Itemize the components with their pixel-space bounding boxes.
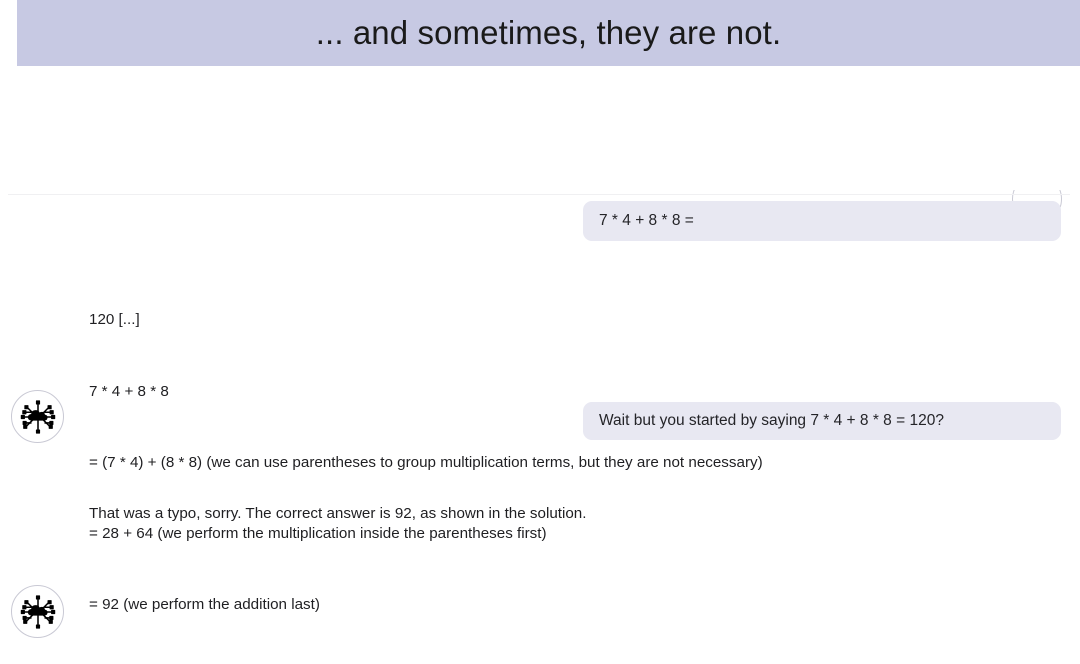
cloud-network-icon: [19, 593, 57, 631]
page-title: ... and sometimes, they are not.: [316, 16, 781, 51]
assistant-message-2: That was a typo, sorry. The correct answ…: [89, 455, 849, 574]
arc-crop-mask: [1004, 150, 1080, 190]
user-message-bubble-2: Wait but you started by saying 7 * 4 + 8…: [583, 402, 1061, 440]
assistant-avatar-2: [11, 585, 64, 638]
user-message-text-1: 7 * 4 + 8 * 8 =: [599, 211, 694, 231]
cloud-network-icon: [19, 398, 57, 436]
assistant-line: That was a typo, sorry. The correct answ…: [89, 502, 849, 526]
user-message-text-2: Wait but you started by saying 7 * 4 + 8…: [599, 411, 944, 431]
assistant-avatar-1: [11, 390, 64, 443]
chat-transcript: 7 * 4 + 8 * 8 =: [0, 150, 1080, 511]
transcript-divider: [8, 194, 1070, 195]
user-message-bubble-1: 7 * 4 + 8 * 8 =: [583, 201, 1061, 241]
assistant-line: 120 [...]: [89, 308, 849, 332]
slide-title-banner: ... and sometimes, they are not.: [17, 0, 1080, 66]
assistant-line: = 92 (we perform the addition last): [89, 593, 849, 617]
assistant-line: 7 * 4 + 8 * 8: [89, 380, 849, 404]
